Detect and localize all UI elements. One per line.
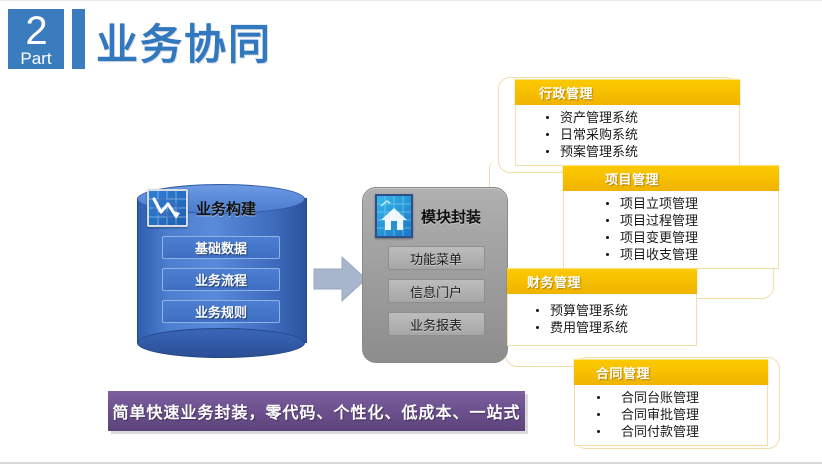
tagline-text: 简单快速业务封装，零代码、个性化、低成本、一站式	[112, 399, 520, 423]
cylinder-header: 业务构建	[137, 188, 305, 228]
module-box-header: 模块封装	[363, 196, 509, 236]
panel-finance-header: 财务管理	[507, 268, 697, 294]
list-item[interactable]: 预案管理系统	[546, 143, 739, 160]
panel-finance: 财务管理 预算管理系统 费用管理系统	[507, 268, 697, 346]
panel-contract-header: 合同管理	[574, 359, 768, 385]
panel-contract: 合同管理 合同台账管理 合同审批管理 合同付款管理	[574, 359, 768, 446]
module-item-2[interactable]: 业务报表	[388, 312, 485, 336]
tagline-banner: 简单快速业务封装，零代码、个性化、低成本、一站式	[108, 391, 525, 431]
list-item[interactable]: 合同审批管理	[597, 406, 767, 423]
business-build-cylinder: 业务构建 基础数据 业务流程 业务规则	[137, 184, 305, 356]
module-block-title: 模块封装	[421, 206, 481, 227]
panel-admin-body: 资产管理系统 日常采购系统 预案管理系统	[515, 105, 740, 166]
part-word: Part	[20, 50, 51, 67]
build-item-0[interactable]: 基础数据	[162, 236, 280, 259]
blueprint-house-icon	[375, 194, 413, 238]
module-item-1[interactable]: 信息门户	[388, 279, 485, 303]
build-item-1[interactable]: 业务流程	[162, 268, 280, 291]
panel-contract-title: 合同管理	[596, 363, 650, 382]
panel-admin-title: 行政管理	[539, 83, 593, 102]
panel-contract-body: 合同台账管理 合同审批管理 合同付款管理	[574, 385, 768, 446]
cylinder-bottom-ellipse	[137, 328, 305, 358]
module-item-0[interactable]: 功能菜单	[388, 246, 485, 270]
list-item[interactable]: 预算管理系统	[536, 302, 696, 319]
build-block-item-list: 基础数据 业务流程 业务规则	[137, 236, 305, 323]
part-badge: 2 Part	[8, 9, 64, 69]
panel-admin-header: 行政管理	[515, 79, 740, 105]
panel-project: 项目管理 项目立项管理 项目过程管理 项目变更管理 项目收支管理	[563, 165, 779, 269]
list-item[interactable]: 资产管理系统	[546, 109, 739, 126]
panel-project-list: 项目立项管理 项目过程管理 项目变更管理 项目收支管理	[564, 195, 778, 263]
build-item-2[interactable]: 业务规则	[162, 300, 280, 323]
list-item[interactable]: 合同台账管理	[597, 389, 767, 406]
build-block-title: 业务构建	[196, 198, 256, 219]
panel-admin-list: 资产管理系统 日常采购系统 预案管理系统	[516, 109, 739, 160]
list-item[interactable]: 项目变更管理	[606, 229, 778, 246]
page-title: 业务协同	[96, 11, 272, 72]
panel-project-header: 项目管理	[563, 165, 779, 191]
slide-canvas: 2 Part 业务协同	[0, 0, 822, 464]
panel-project-body: 项目立项管理 项目过程管理 项目变更管理 项目收支管理	[563, 191, 779, 269]
right-arrow-icon	[312, 253, 368, 305]
header-accent-bar	[72, 9, 85, 69]
list-item[interactable]: 合同付款管理	[597, 423, 767, 440]
list-item[interactable]: 项目过程管理	[606, 212, 778, 229]
module-package-box: 模块封装 功能菜单 信息门户 业务报表	[362, 187, 508, 363]
panel-admin: 行政管理 资产管理系统 日常采购系统 预案管理系统	[515, 79, 740, 166]
list-item[interactable]: 项目立项管理	[606, 195, 778, 212]
panel-project-title: 项目管理	[605, 169, 659, 188]
list-item[interactable]: 项目收支管理	[606, 246, 778, 263]
panel-finance-list: 预算管理系统 费用管理系统	[508, 302, 696, 336]
panel-contract-list: 合同台账管理 合同审批管理 合同付款管理	[575, 389, 767, 440]
list-item[interactable]: 费用管理系统	[536, 319, 696, 336]
panel-finance-title: 财务管理	[527, 272, 581, 291]
chart-down-arrow-icon	[147, 189, 188, 227]
panel-finance-body: 预算管理系统 费用管理系统	[507, 294, 697, 346]
part-number: 2	[25, 11, 46, 51]
module-block-item-list: 功能菜单 信息门户 业务报表	[363, 246, 509, 336]
list-item[interactable]: 日常采购系统	[546, 126, 739, 143]
